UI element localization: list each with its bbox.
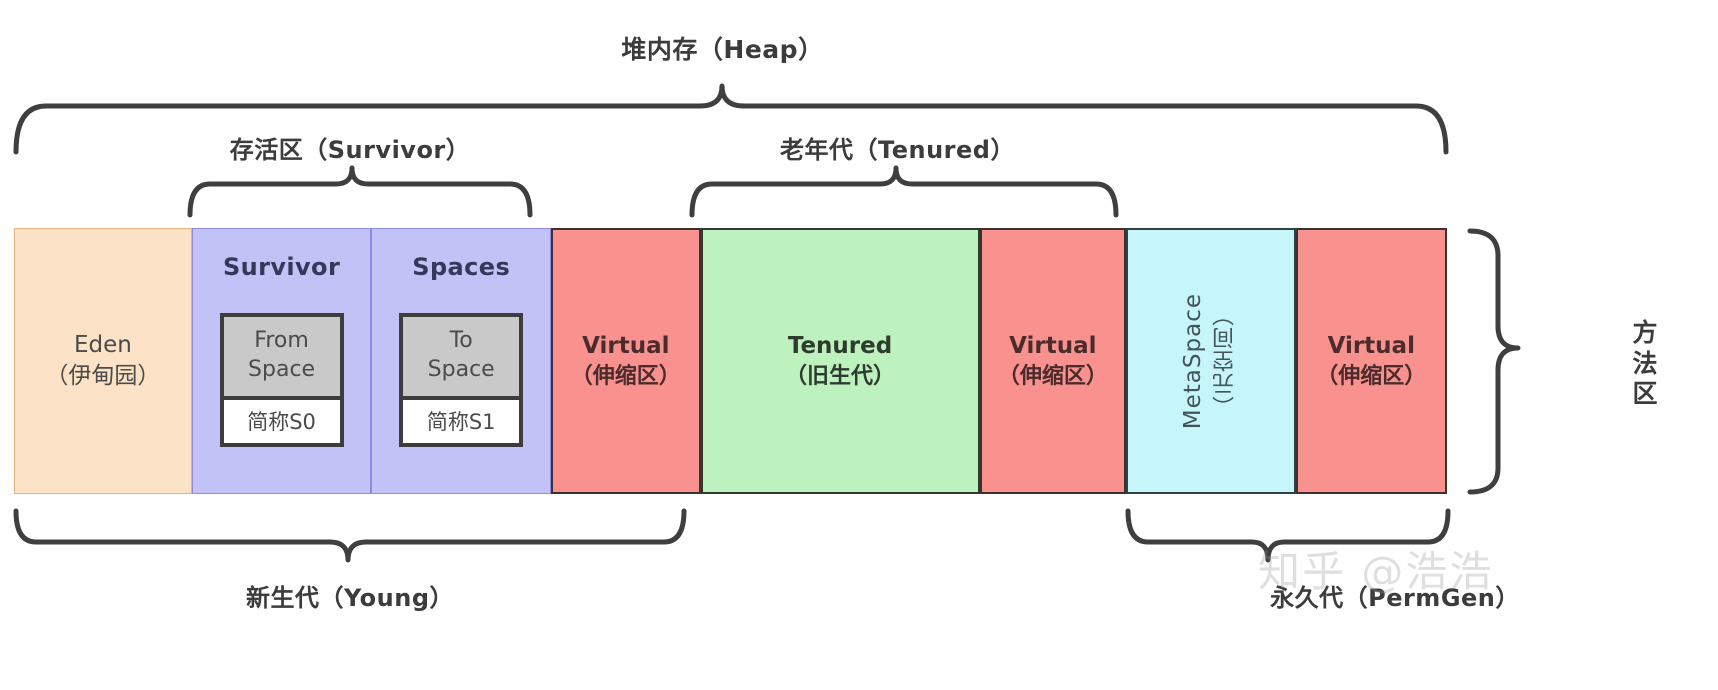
brace-method-area (1470, 231, 1518, 492)
survivor-from-line-2: Space (224, 356, 340, 385)
virtual-old-title: Virtual (1009, 331, 1096, 362)
brace-label-method-area: 方 法 区 (1625, 318, 1665, 410)
survivor-from-head: Survivor (223, 253, 340, 281)
method-area-char-3: 区 (1625, 379, 1665, 410)
survivor-from-alias: 简称S0 (224, 396, 340, 443)
survivor-to-head: Spaces (412, 253, 510, 281)
brace-label-young: 新生代（Young） (0, 578, 700, 613)
method-area-char-1: 方 (1625, 318, 1665, 349)
tenured-title: Tenured (788, 331, 892, 362)
virtual-meta-title: Virtual (1328, 331, 1415, 362)
brace-survivor (190, 168, 530, 215)
survivor-to-alias: 简称S1 (403, 396, 519, 443)
virtual-old-subtitle: （伸缩区） (998, 362, 1108, 392)
tenured-subtitle: （旧生代） (785, 362, 895, 392)
watermark: 知乎 @浩浩 (1258, 538, 1493, 599)
brace-label-heap: 堆内存（Heap） (0, 30, 1445, 66)
survivor-to-box[interactable]: To Space 简称S1 (399, 313, 523, 447)
memory-cell-survivor-to[interactable]: Spaces To Space 简称S1 (371, 228, 551, 494)
virtual-meta-subtitle: （伸缩区） (1316, 362, 1426, 392)
eden-subtitle: （伊甸园） (45, 361, 160, 392)
survivor-to-line-2: Space (403, 356, 519, 385)
memory-cell-virtual-meta[interactable]: Virtual （伸缩区） (1296, 228, 1447, 494)
memory-cell-virtual-old[interactable]: Virtual （伸缩区） (980, 228, 1127, 494)
memory-bar: Eden （伊甸园） Survivor From Space 简称S0 Spac… (14, 228, 1447, 494)
brace-tenured (692, 168, 1116, 215)
brace-label-survivor: 存活区（Survivor） (110, 130, 590, 165)
brace-young (16, 511, 684, 560)
metaspace-title: MetaSpace (1180, 293, 1206, 429)
memory-cell-eden[interactable]: Eden （伊甸园） (14, 228, 192, 494)
metaspace-rotated-label: （元空间） MetaSpace (1180, 293, 1242, 429)
memory-cell-virtual-young[interactable]: Virtual （伸缩区） (551, 228, 701, 494)
survivor-from-line-1: From (224, 327, 340, 356)
metaspace-subtitle: （元空间） (1210, 303, 1242, 418)
survivor-to-box-title: To Space (403, 317, 519, 396)
survivor-from-box-title: From Space (224, 317, 340, 396)
diagram-canvas: 堆内存（Heap） 存活区（Survivor） 老年代（Tenured） 新生代… (0, 0, 1718, 690)
brace-label-tenured: 老年代（Tenured） (625, 130, 1170, 165)
memory-cell-metaspace[interactable]: （元空间） MetaSpace (1126, 228, 1295, 494)
method-area-char-2: 法 (1625, 349, 1665, 380)
virtual-young-subtitle: （伸缩区） (571, 362, 681, 392)
eden-title: Eden (74, 330, 132, 361)
survivor-from-box[interactable]: From Space 简称S0 (220, 313, 344, 447)
memory-cell-survivor-from[interactable]: Survivor From Space 简称S0 (192, 228, 372, 494)
memory-cell-tenured[interactable]: Tenured （旧生代） (701, 228, 980, 494)
survivor-to-line-1: To (403, 327, 519, 356)
virtual-young-title: Virtual (582, 331, 669, 362)
